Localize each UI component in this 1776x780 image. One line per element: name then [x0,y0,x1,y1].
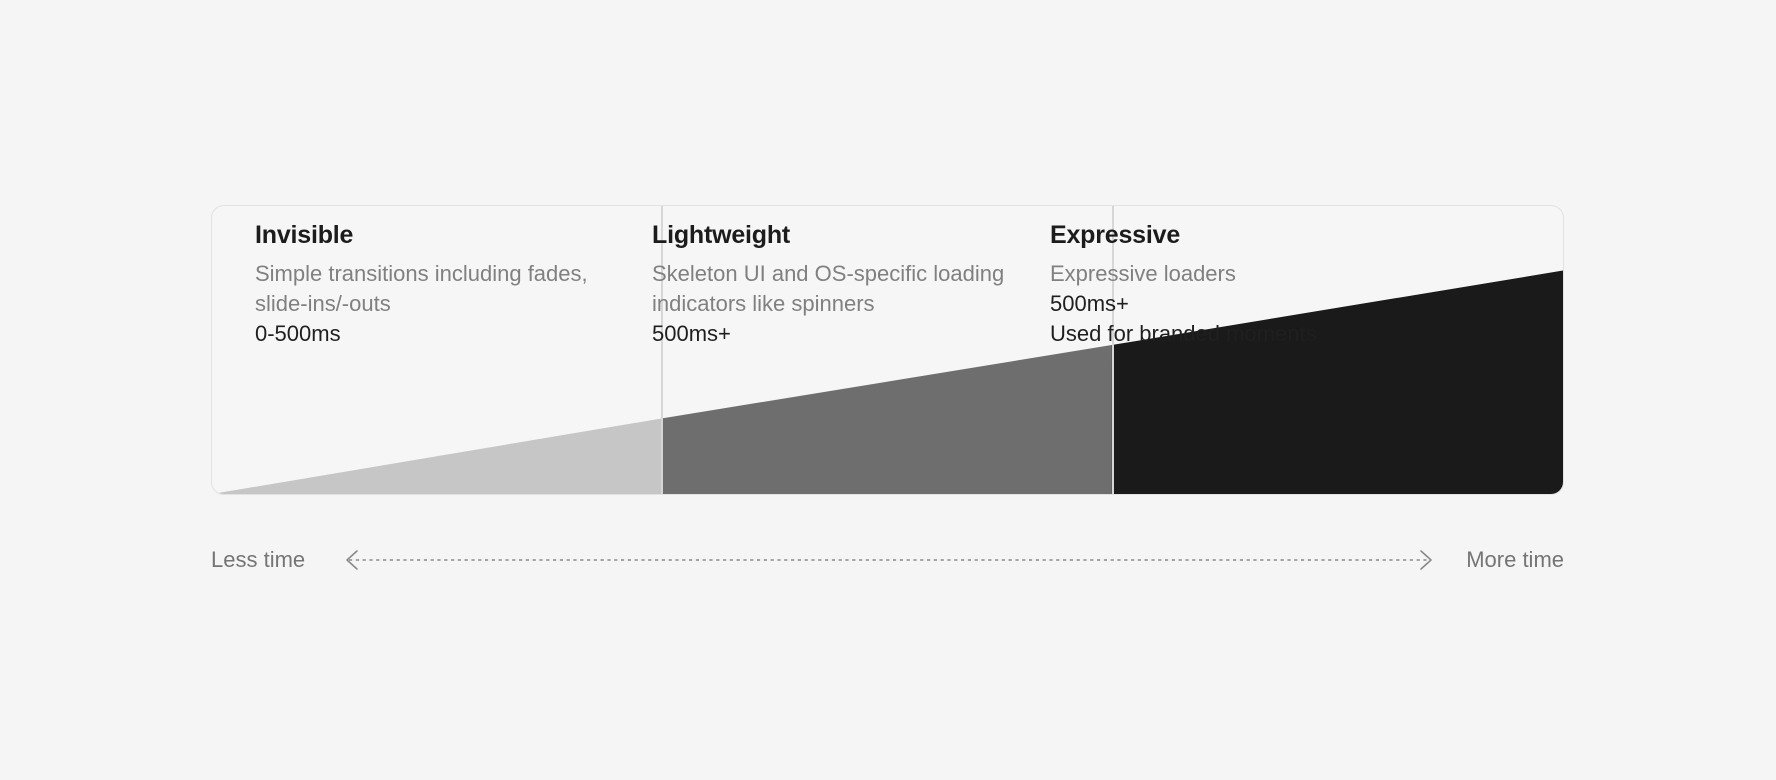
spectrum-card: Invisible Simple transitions including f… [211,205,1564,495]
column-timing-expressive: 500ms+ [1050,289,1450,319]
wedge-segment-lightweight [661,345,1111,494]
column-title-expressive: Expressive [1050,220,1450,250]
column-description-expressive: Expressive loaders [1050,259,1450,289]
column-expressive: Expressive Expressive loaders 500ms+ Use… [1050,220,1450,349]
double-arrow-icon [339,538,1439,582]
column-title-lightweight: Lightweight [652,220,1052,250]
axis-label-more-time: More time [1466,538,1564,582]
column-invisible: Invisible Simple transitions including f… [255,220,645,349]
wedge-segment-invisible [212,419,661,494]
column-description-lightweight: Skeleton UI and OS-specific loading indi… [652,259,1052,319]
column-lightweight: Lightweight Skeleton UI and OS-specific … [652,220,1052,349]
column-title-invisible: Invisible [255,220,645,250]
column-description-invisible: Simple transitions including fades, slid… [255,259,645,319]
axis-label-less-time: Less time [211,538,305,582]
column-timing-lightweight: 500ms+ [652,319,1052,349]
loading-spectrum-diagram: Invisible Simple transitions including f… [0,0,1776,780]
column-timing-invisible: 0-500ms [255,319,645,349]
time-axis: Less time More time [211,538,1564,582]
column-note-expressive: Used for branded moments [1050,319,1450,349]
